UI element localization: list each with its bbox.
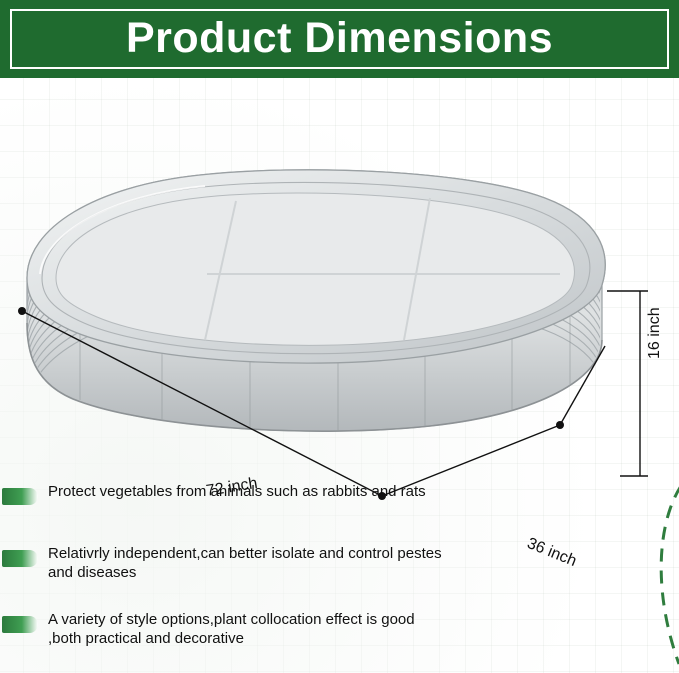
page-title: Product Dimensions	[126, 17, 553, 60]
bullet-icon	[2, 616, 38, 633]
feature-text: Relativrly independent,can better isolat…	[48, 544, 448, 582]
bullet-icon	[2, 550, 38, 567]
feature-text: Protect vegetables from animals such as …	[48, 482, 448, 501]
list-item: Protect vegetables from animals such as …	[0, 482, 679, 538]
list-item: Relativrly independent,can better isolat…	[0, 544, 679, 600]
list-item: A variety of style options,plant colloca…	[0, 610, 679, 666]
header-banner: Product Dimensions	[0, 0, 679, 78]
feature-list: Protect vegetables from animals such as …	[0, 482, 679, 673]
product-dimensions-image: Product Dimensions	[0, 0, 679, 673]
garden-bed-drawing	[0, 78, 679, 518]
bullet-icon	[2, 488, 38, 505]
product-illustration: 72 inch 36 inch 16 inch	[0, 78, 679, 518]
feature-text: A variety of style options,plant colloca…	[48, 610, 448, 648]
bed-top-rim	[27, 170, 605, 363]
dimension-label-height: 16 inch	[646, 307, 664, 359]
